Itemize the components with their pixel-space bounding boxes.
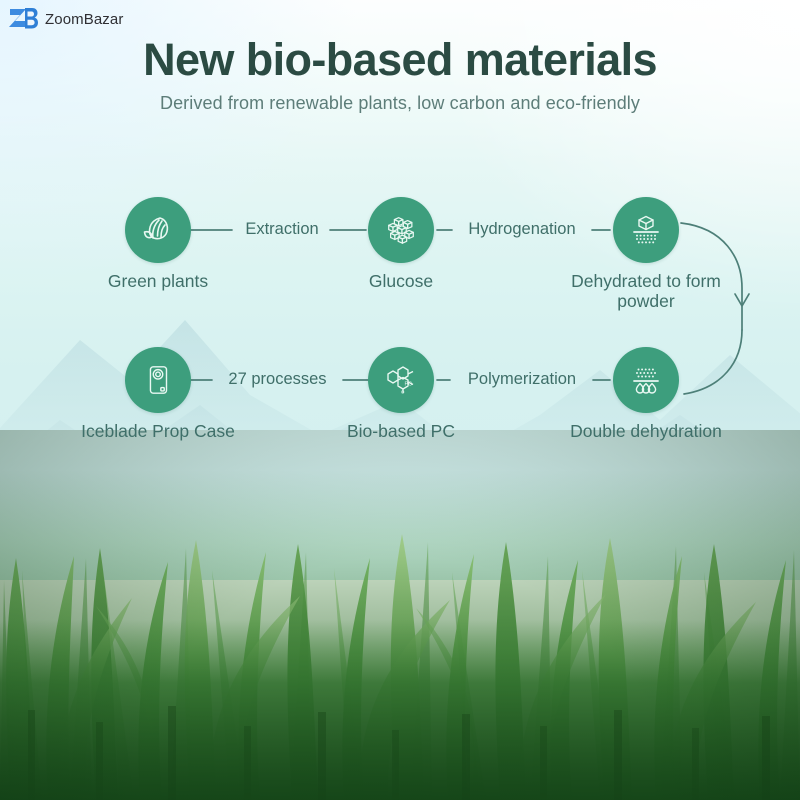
flow-node-bio-based-pc[interactable]: PC O Bio-based PC xyxy=(316,347,486,442)
svg-text:PC: PC xyxy=(405,382,413,388)
zb-monogram-logo-icon xyxy=(8,6,38,32)
flow-node-label: Dehydrated to form powder xyxy=(561,272,731,311)
sugar-cubes-icon xyxy=(384,213,418,247)
flow-node-label: Green plants xyxy=(73,272,243,292)
dehydrated-circle xyxy=(613,197,679,263)
sugarcane-photo xyxy=(0,430,800,800)
page-title: New bio-based materials xyxy=(0,34,800,86)
brand-logo[interactable]: ZoomBazar xyxy=(8,6,123,32)
process-flow-diagram: Green plants Extraction Glucose xyxy=(0,180,800,450)
svg-text:O: O xyxy=(401,390,405,395)
flow-node-green-plants[interactable]: Green plants xyxy=(73,197,243,292)
promo-banner: ZoomBazar New bio-based materials Derive… xyxy=(0,0,800,800)
bio-based-pc-circle: PC O xyxy=(368,347,434,413)
flow-node-label: Iceblade Prop Case xyxy=(73,422,243,442)
cube-powder-icon xyxy=(628,212,664,248)
glucose-circle xyxy=(368,197,434,263)
flow-node-label: Bio-based PC xyxy=(316,422,486,442)
corn-plant-icon xyxy=(140,212,176,248)
green-plants-circle xyxy=(125,197,191,263)
phone-case-icon xyxy=(141,363,175,397)
flow-node-label: Double dehydration xyxy=(561,422,731,442)
brand-name: ZoomBazar xyxy=(45,11,123,28)
flow-node-double-dehydration[interactable]: Double dehydration xyxy=(561,347,731,442)
iceblade-prop-case-circle xyxy=(125,347,191,413)
flow-node-glucose[interactable]: Glucose xyxy=(316,197,486,292)
molecule-pc-icon: PC O xyxy=(383,362,419,398)
photo-vignette xyxy=(0,430,800,800)
double-dehydration-circle xyxy=(613,347,679,413)
powder-droplets-icon xyxy=(628,362,664,398)
page-subtitle: Derived from renewable plants, low carbo… xyxy=(0,93,800,114)
flow-node-dehydrated[interactable]: Dehydrated to form powder xyxy=(561,197,731,311)
flow-node-iceblade-prop-case[interactable]: Iceblade Prop Case xyxy=(73,347,243,442)
flow-node-label: Glucose xyxy=(316,272,486,292)
